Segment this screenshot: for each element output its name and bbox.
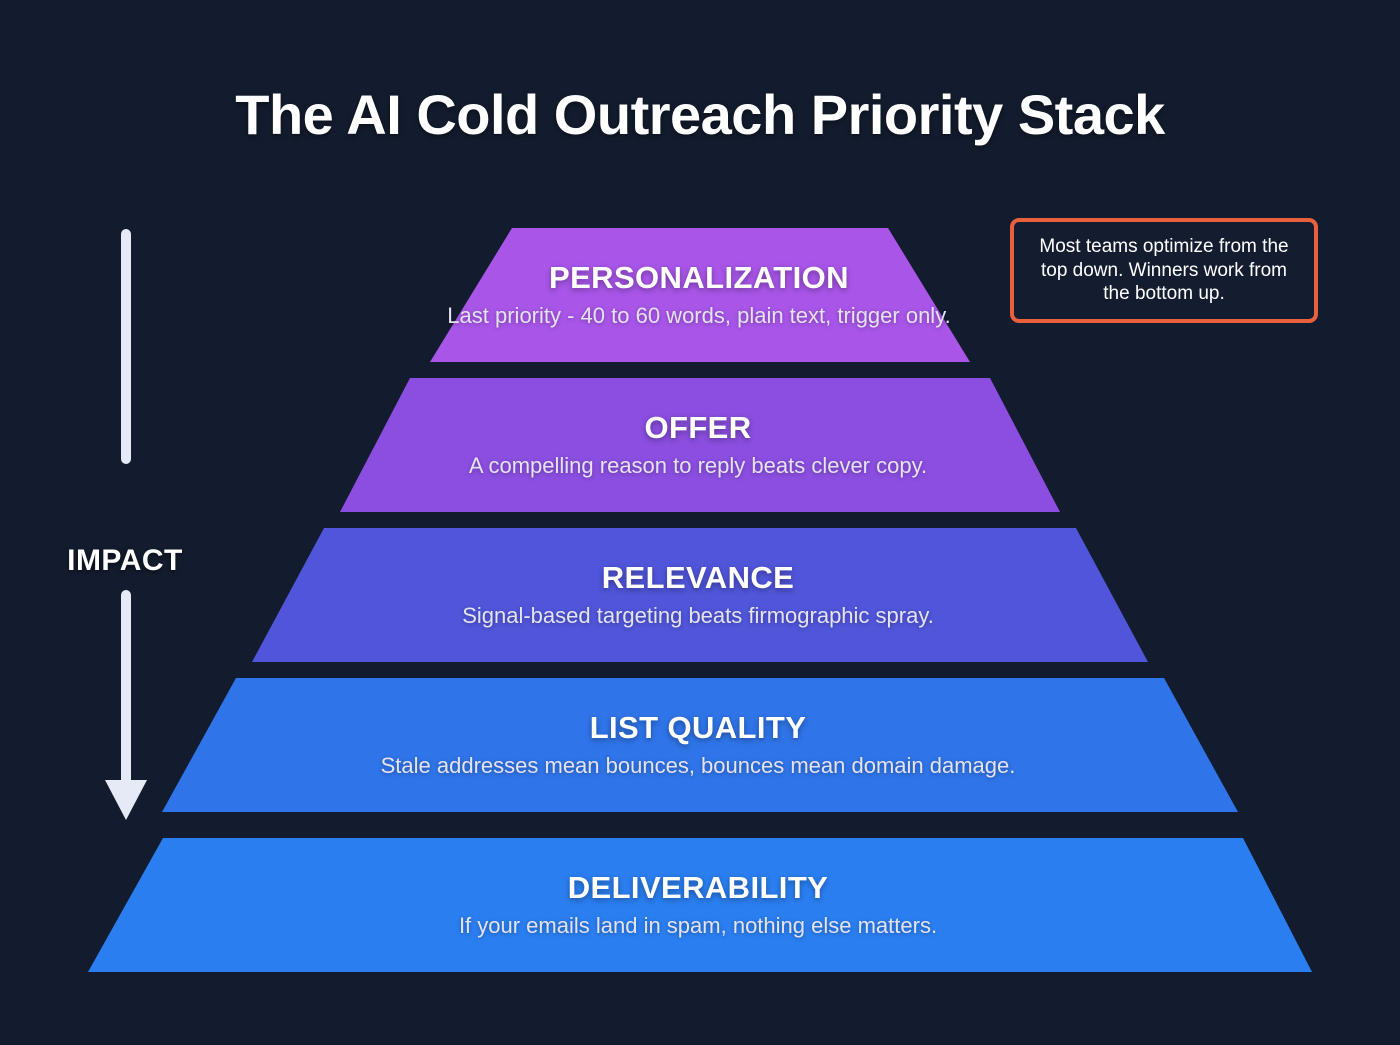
pyramid-tier-offer[interactable]: OFFER A compelling reason to reply beats… — [340, 378, 1060, 512]
tier-title: PERSONALIZATION — [433, 260, 965, 296]
pyramid-tier-list-quality[interactable]: LIST QUALITY Stale addresses mean bounce… — [162, 678, 1238, 812]
tier-description: Stale addresses mean bounces, bounces me… — [164, 752, 1232, 780]
tier-title: OFFER — [342, 410, 1054, 446]
tier-description: Signal-based targeting beats firmographi… — [254, 602, 1142, 630]
pyramid-tier-relevance[interactable]: RELEVANCE Signal-based targeting beats f… — [252, 528, 1148, 662]
tier-description: Last priority - 40 to 60 words, plain te… — [433, 302, 965, 330]
priority-pyramid: PERSONALIZATION Last priority - 40 to 60… — [0, 0, 1400, 1045]
pyramid-tier-deliverability[interactable]: DELIVERABILITY If your emails land in sp… — [88, 838, 1312, 972]
tier-title: DELIVERABILITY — [90, 870, 1306, 906]
tier-description: A compelling reason to reply beats cleve… — [342, 452, 1054, 480]
pyramid-tier-personalization[interactable]: PERSONALIZATION Last priority - 40 to 60… — [430, 228, 970, 362]
tier-title: RELEVANCE — [254, 560, 1142, 596]
tier-description: If your emails land in spam, nothing els… — [90, 912, 1306, 940]
tier-title: LIST QUALITY — [164, 710, 1232, 746]
